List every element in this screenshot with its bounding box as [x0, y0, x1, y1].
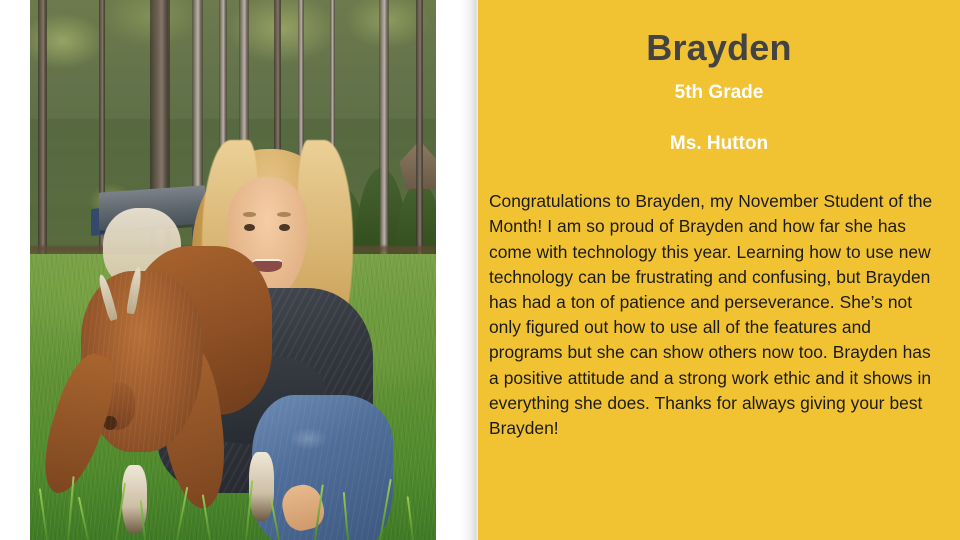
congratulations-text: Congratulations to Brayden, my November … — [478, 156, 960, 441]
held-goat — [62, 227, 289, 540]
page-title: Brayden — [478, 0, 960, 68]
student-of-the-month-slide: Brayden 5th Grade Ms. Hutton Congratulat… — [0, 0, 960, 540]
grade-label: 5th Grade — [478, 68, 960, 105]
student-photo — [30, 0, 436, 540]
tree-trunk — [38, 0, 47, 270]
photo-scene — [30, 0, 436, 540]
panel-divider-shadow — [460, 0, 478, 540]
teacher-label: Ms. Hutton — [478, 104, 960, 156]
tree-trunk — [416, 0, 423, 270]
info-panel: Brayden 5th Grade Ms. Hutton Congratulat… — [478, 0, 960, 540]
